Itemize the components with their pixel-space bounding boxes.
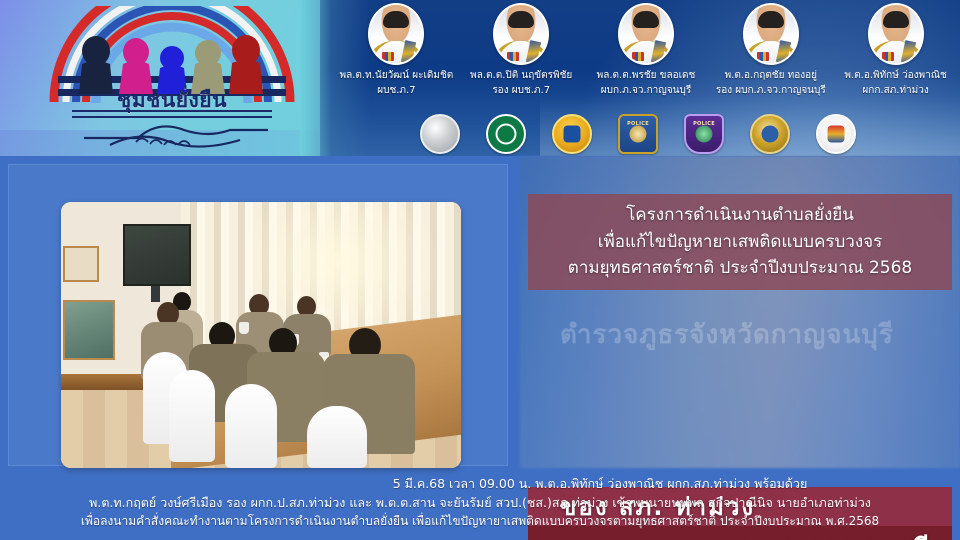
caption-line-1: 5 มี.ค.68 เวลา 09.00 น. พ.ต.อ.พิทักษ์ ว่… bbox=[6, 474, 954, 493]
officer-portrait-photo bbox=[743, 3, 799, 65]
sash-icon bbox=[900, 40, 915, 64]
officer-name: พล.ต.ท.นัยวัฒน์ ผะเดิมชิต bbox=[340, 70, 454, 83]
poster-root: ชุมชนยั่งยืน พล.ต.ท.นัยวัฒน์ ผะเดิมชิต ผ… bbox=[0, 0, 960, 540]
medal-ribbons-icon bbox=[382, 52, 394, 61]
project-title-line-2: เพื่อแก้ไขปัญหายาเสพติดแบบครบวงจร bbox=[598, 230, 882, 255]
wooden-cabinet bbox=[61, 242, 119, 392]
sash-icon bbox=[651, 40, 666, 64]
medal-ribbons-icon bbox=[507, 52, 519, 61]
royal-thai-emblem-icon bbox=[420, 114, 460, 154]
officer-card: พล.ต.ต.พรชัย ขลอเดช ผบก.ภ.จว.กาญจนบุรี bbox=[584, 3, 709, 107]
logo-divider-upper bbox=[72, 110, 272, 112]
caption-line-2: พ.ต.ท.กฤตย์ วงษ์ศรีเมือง รอง ผกก.ป.สภ.ท่… bbox=[6, 493, 954, 512]
sash-icon bbox=[526, 40, 541, 64]
royal-thai-police-emblem-icon: POLICE bbox=[618, 114, 658, 154]
officer-role: ผบก.ภ.จว.กาญจนบุรี bbox=[601, 85, 691, 98]
officer-name: พล.ต.ต.ปิติ นฤขัตรพิชัย bbox=[470, 70, 572, 83]
chair bbox=[225, 384, 277, 468]
officer-portrait-photo bbox=[618, 3, 674, 65]
officer-card: พล.ต.ท.นัยวัฒน์ ผะเดิมชิต ผบช.ภ.7 bbox=[334, 3, 459, 107]
narcotics-police-emblem-icon: POLICE bbox=[684, 114, 724, 154]
project-title-block: โครงการดำเนินงานตำบลยั่งยืน เพื่อแก้ไขปั… bbox=[528, 194, 952, 290]
sash-icon bbox=[776, 40, 791, 64]
officer-name: พล.ต.ต.พรชัย ขลอเดช bbox=[597, 70, 696, 83]
community-logo: ชุมชนยั่งยืน bbox=[36, 6, 308, 154]
chair bbox=[307, 406, 367, 468]
handshake-icon bbox=[80, 118, 270, 152]
medal-ribbons-icon bbox=[632, 52, 644, 61]
provincial-police-region-emblem-icon bbox=[750, 114, 790, 154]
officer-card: พ.ต.อ.กฤตชัย ทองอยู่ รอง ผบก.ภ.จว.กาญจนบ… bbox=[708, 3, 833, 107]
officer-role: ผกก.สภ.ท่าม่วง bbox=[862, 85, 928, 98]
officer-card: พล.ต.ต.ปิติ นฤขัตรพิชัย รอง ผบช.ภ.7 bbox=[459, 3, 584, 107]
photo-panel bbox=[8, 164, 508, 466]
television-icon bbox=[123, 224, 191, 286]
local-administration-emblem-icon bbox=[816, 114, 856, 154]
officer-portrait-row: พล.ต.ท.นัยวัฒน์ ผะเดิมชิต ผบช.ภ.7 พล.ต.ต… bbox=[334, 3, 958, 107]
sash-icon bbox=[401, 40, 416, 64]
caption-block: 5 มี.ค.68 เวลา 09.00 น. พ.ต.อ.พิทักษ์ ว่… bbox=[0, 474, 960, 531]
agency-emblem-row: POLICE POLICE bbox=[420, 112, 960, 156]
background-ghost-text: ตำรวจภูธรจังหวัดกาญจนบุรี bbox=[560, 314, 960, 355]
officer-portrait-photo bbox=[368, 3, 424, 65]
officer-name: พ.ต.อ.พิทักษ์ ว่องพาณิช bbox=[844, 70, 946, 83]
officer-portrait-photo bbox=[493, 3, 549, 65]
officer-card: พ.ต.อ.พิทักษ์ ว่องพาณิช ผกก.สภ.ท่าม่วง bbox=[833, 3, 958, 107]
logo-title-text: ชุมชนยั่งยืน bbox=[36, 84, 308, 117]
officer-role: รอง ผบก.ภ.จว.กาญจนบุรี bbox=[716, 85, 826, 98]
meeting-room-photo bbox=[61, 202, 461, 468]
poster-body: ตำรวจภูธรจังหวัดกาญจนบุรี bbox=[0, 156, 960, 540]
ministry-of-public-health-emblem-icon bbox=[486, 114, 526, 154]
officer-role: รอง ผบช.ภ.7 bbox=[492, 85, 550, 98]
ministry-of-interior-emblem-icon bbox=[552, 114, 592, 154]
officer-portrait-photo bbox=[868, 3, 924, 65]
project-title-line-1: โครงการดำเนินงานตำบลยั่งยืน bbox=[626, 203, 854, 228]
medal-ribbons-icon bbox=[882, 52, 894, 61]
officer-role: ผบช.ภ.7 bbox=[377, 85, 415, 98]
water-cup bbox=[239, 322, 249, 334]
project-title-line-3: ตามยุทธศาสตร์ชาติ ประจำปีงบประมาณ 2568 bbox=[568, 256, 912, 281]
chair bbox=[169, 370, 215, 462]
header-bar: ชุมชนยั่งยืน พล.ต.ท.นัยวัฒน์ ผะเดิมชิต ผ… bbox=[0, 0, 960, 156]
medal-ribbons-icon bbox=[757, 52, 769, 61]
officer-name: พ.ต.อ.กฤตชัย ทองอยู่ bbox=[725, 70, 817, 83]
caption-line-3: เพื่อลงนามคำสั่งคณะทำงานตามโครงการดำเนิน… bbox=[6, 512, 954, 531]
